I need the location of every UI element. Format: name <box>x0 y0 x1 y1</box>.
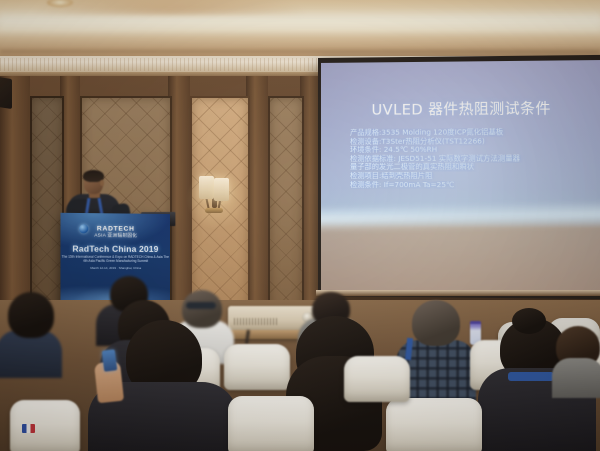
chair <box>386 398 482 451</box>
audience-head <box>182 290 222 328</box>
screen-light-streak <box>321 200 600 232</box>
sconce-shade-icon <box>214 178 229 201</box>
slide-line: 检测条件: If=700mA Ta=25℃ <box>350 181 586 190</box>
chair <box>224 344 290 390</box>
chair <box>10 400 80 451</box>
podium-logo-sub: ASIA 亚洲辐射固化 <box>60 232 170 239</box>
slide-body: 产品规格:3535 Molding 120度ICP氮化铝基板 检测设备:T3St… <box>350 128 586 190</box>
slide-line: 检测项目:结到壳热阻片阻 <box>350 172 586 181</box>
slide-line: 量子部的发光二极管的真实热阻和瞬状 <box>350 163 586 172</box>
projection-screen[interactable]: UVLED 器件热阻测试条件 产品规格:3535 Molding 120度ICP… <box>318 55 600 299</box>
screen-bottom-rail <box>316 290 600 296</box>
conference-photo: UVLED 器件热阻测试条件 产品规格:3535 Molding 120度ICP… <box>0 0 600 451</box>
podium-event-subtitle: The 15th International Conference & Expo… <box>60 255 170 264</box>
podium-event-dates: March 12-14, 2019 · Shanghai, China <box>60 266 170 270</box>
audience-head <box>412 300 460 346</box>
screen-surface: UVLED 器件热阻测试条件 产品规格:3535 Molding 120度ICP… <box>321 60 600 294</box>
cove-light <box>0 10 600 32</box>
sconce-shade-icon <box>199 176 214 199</box>
chair <box>228 396 314 451</box>
audience-torso <box>552 358 600 398</box>
podium-logo: RADTECH ASIA 亚洲辐射固化 <box>60 225 170 239</box>
audience-glasses-icon <box>186 302 216 309</box>
audience-hair-bun <box>512 308 546 334</box>
audience-lanyard <box>508 372 554 381</box>
sconce-base <box>205 208 223 213</box>
audience-head <box>8 292 54 338</box>
chair <box>344 356 410 402</box>
flag-pin <box>22 424 35 433</box>
pa-speaker-icon <box>0 77 12 109</box>
speaker-ear <box>100 180 104 186</box>
podium-event-title: RadTech China 2019 <box>60 243 170 254</box>
slide-line: 检测依据标准: JESD51-51 实际数字测试方法测量器 <box>350 154 586 163</box>
smartphone[interactable] <box>102 349 117 371</box>
projector-vents <box>234 318 278 325</box>
ceiling-shadow-line <box>0 50 600 55</box>
slide-title: UVLED 器件热阻测试条件 <box>321 97 600 120</box>
